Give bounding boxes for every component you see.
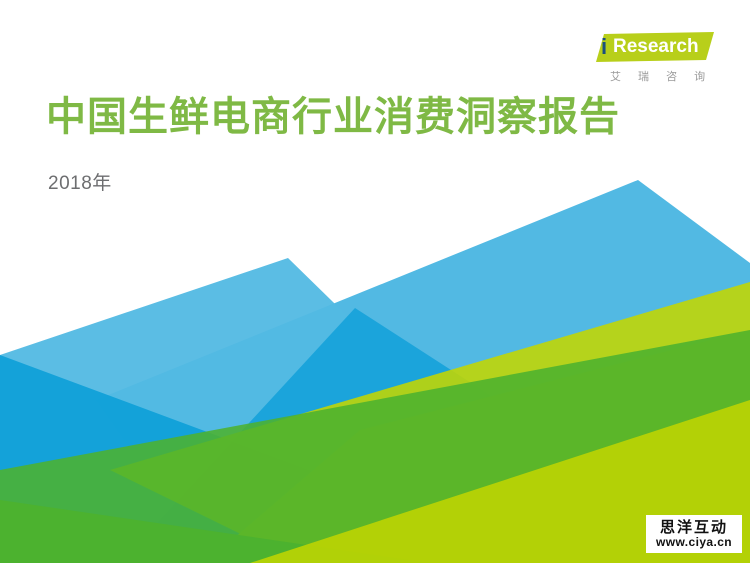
logo-wordmark: Research [596,32,714,62]
page-title: 中国生鲜电商行业消费洞察报告 [46,92,646,142]
logo-mark: Research i [596,32,714,62]
logo-initial-i: i [601,35,607,59]
report-year: 2018年 [48,168,646,195]
title-block: 中国生鲜电商行业消费洞察报告 2018年 [46,92,646,195]
background-artwork [0,0,750,563]
iresearch-logo: Research i 艾 瑞 咨 询 [576,32,716,84]
slide-canvas: Research i 艾 瑞 咨 询 中国生鲜电商行业消费洞察报告 2018年 … [0,0,750,563]
watermark-url: www.ciya.cn [656,536,732,549]
watermark-name: 思洋互动 [656,520,732,536]
watermark-badge: 思洋互动 www.ciya.cn [646,515,742,553]
logo-chinese-name: 艾 瑞 咨 询 [596,68,716,84]
